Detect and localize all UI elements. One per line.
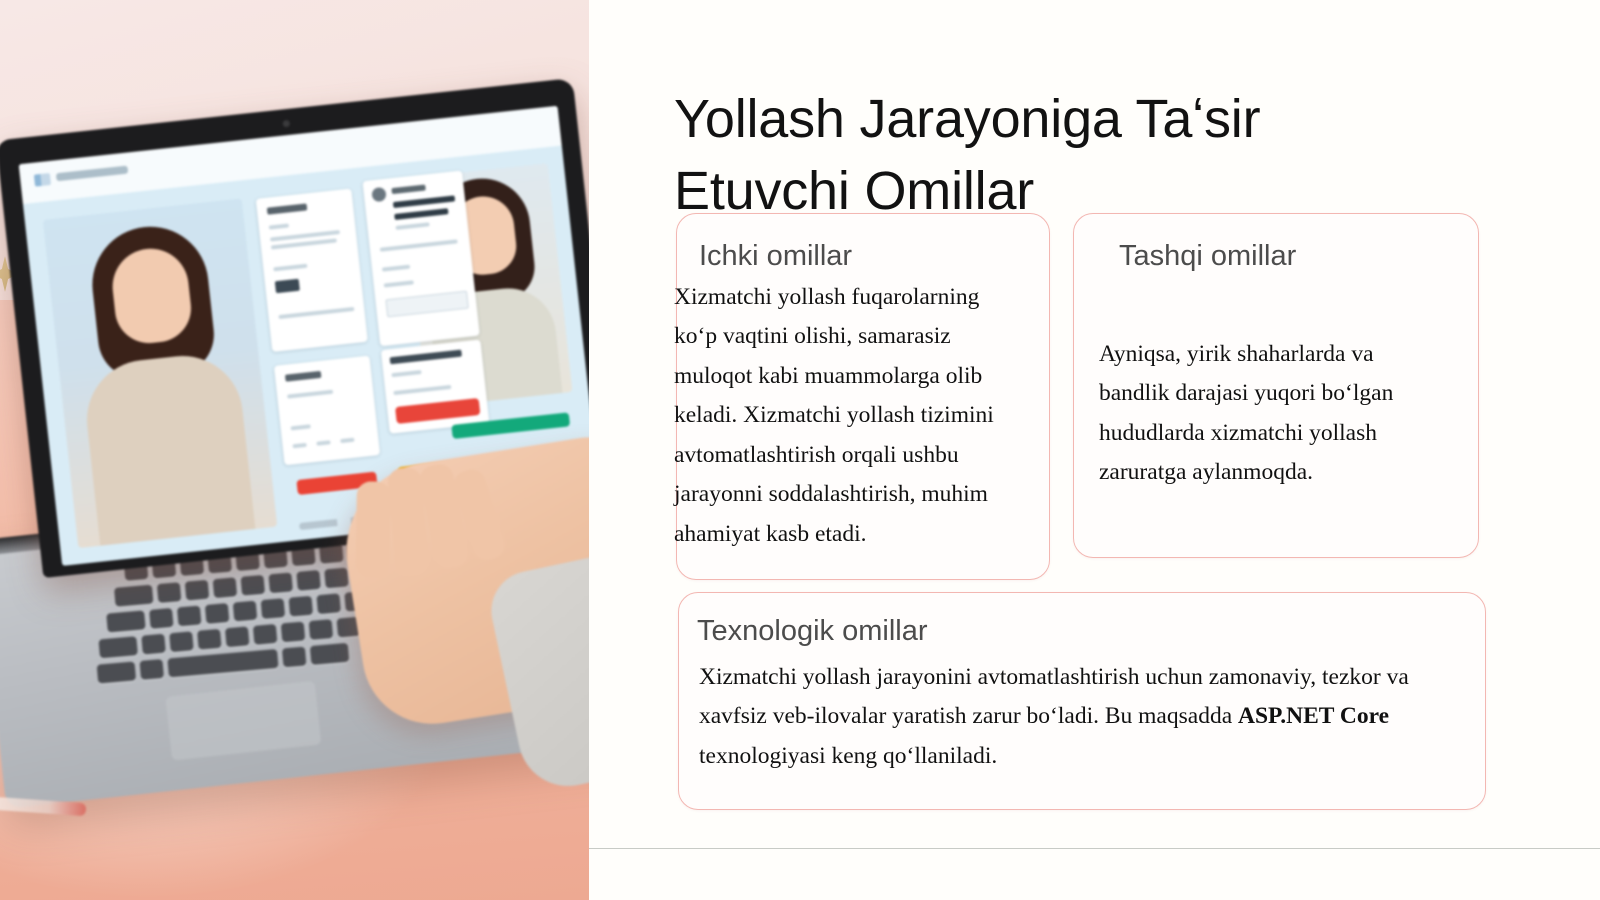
card-title-tashqi-omillar: Tashqi omillar (1119, 240, 1296, 273)
card-title-ichki-omillar: Ichki omillar (699, 240, 852, 273)
app-topbar-button (374, 106, 437, 120)
laptop-trackpad (165, 681, 321, 761)
app-brand-text (56, 166, 128, 182)
app-video-tile-left (43, 198, 277, 548)
content-panel: Yollash Jarayoniga Taʻsir Etuvchi Omilla… (589, 0, 1600, 900)
app-panel-score (274, 356, 380, 466)
card-body-tashqi-omillar: Ayniqsa, yirik shaharlarda va bandlik da… (1099, 335, 1424, 493)
hero-photo (0, 0, 589, 900)
tech-body-part2: texnologiyasi keng qoʻllaniladi. (699, 743, 997, 769)
slide-root: Yollash Jarayoniga Taʻsir Etuvchi Omilla… (0, 0, 1600, 900)
tech-body-emphasis: ASP.NET Core (1238, 703, 1389, 729)
app-logo-icon (34, 173, 51, 187)
card-body-ichki-omillar: Xizmatchi yollash fuqarolarning koʻp vaq… (674, 278, 1019, 554)
app-avatar-icon (459, 106, 483, 112)
app-panel-candidate (362, 170, 479, 346)
card-title-texnologik-omillar: Texnologik omillar (697, 615, 928, 648)
app-panel-topics (256, 189, 368, 352)
footer-divider (589, 848, 1600, 849)
card-body-texnologik-omillar: Xizmatchi yollash jarayonini avtomatlash… (699, 658, 1454, 776)
laptop-webcam (282, 120, 290, 128)
page-title: Yollash Jarayoniga Taʻsir Etuvchi Omilla… (674, 84, 1434, 228)
app-panel-analytics (381, 339, 489, 433)
